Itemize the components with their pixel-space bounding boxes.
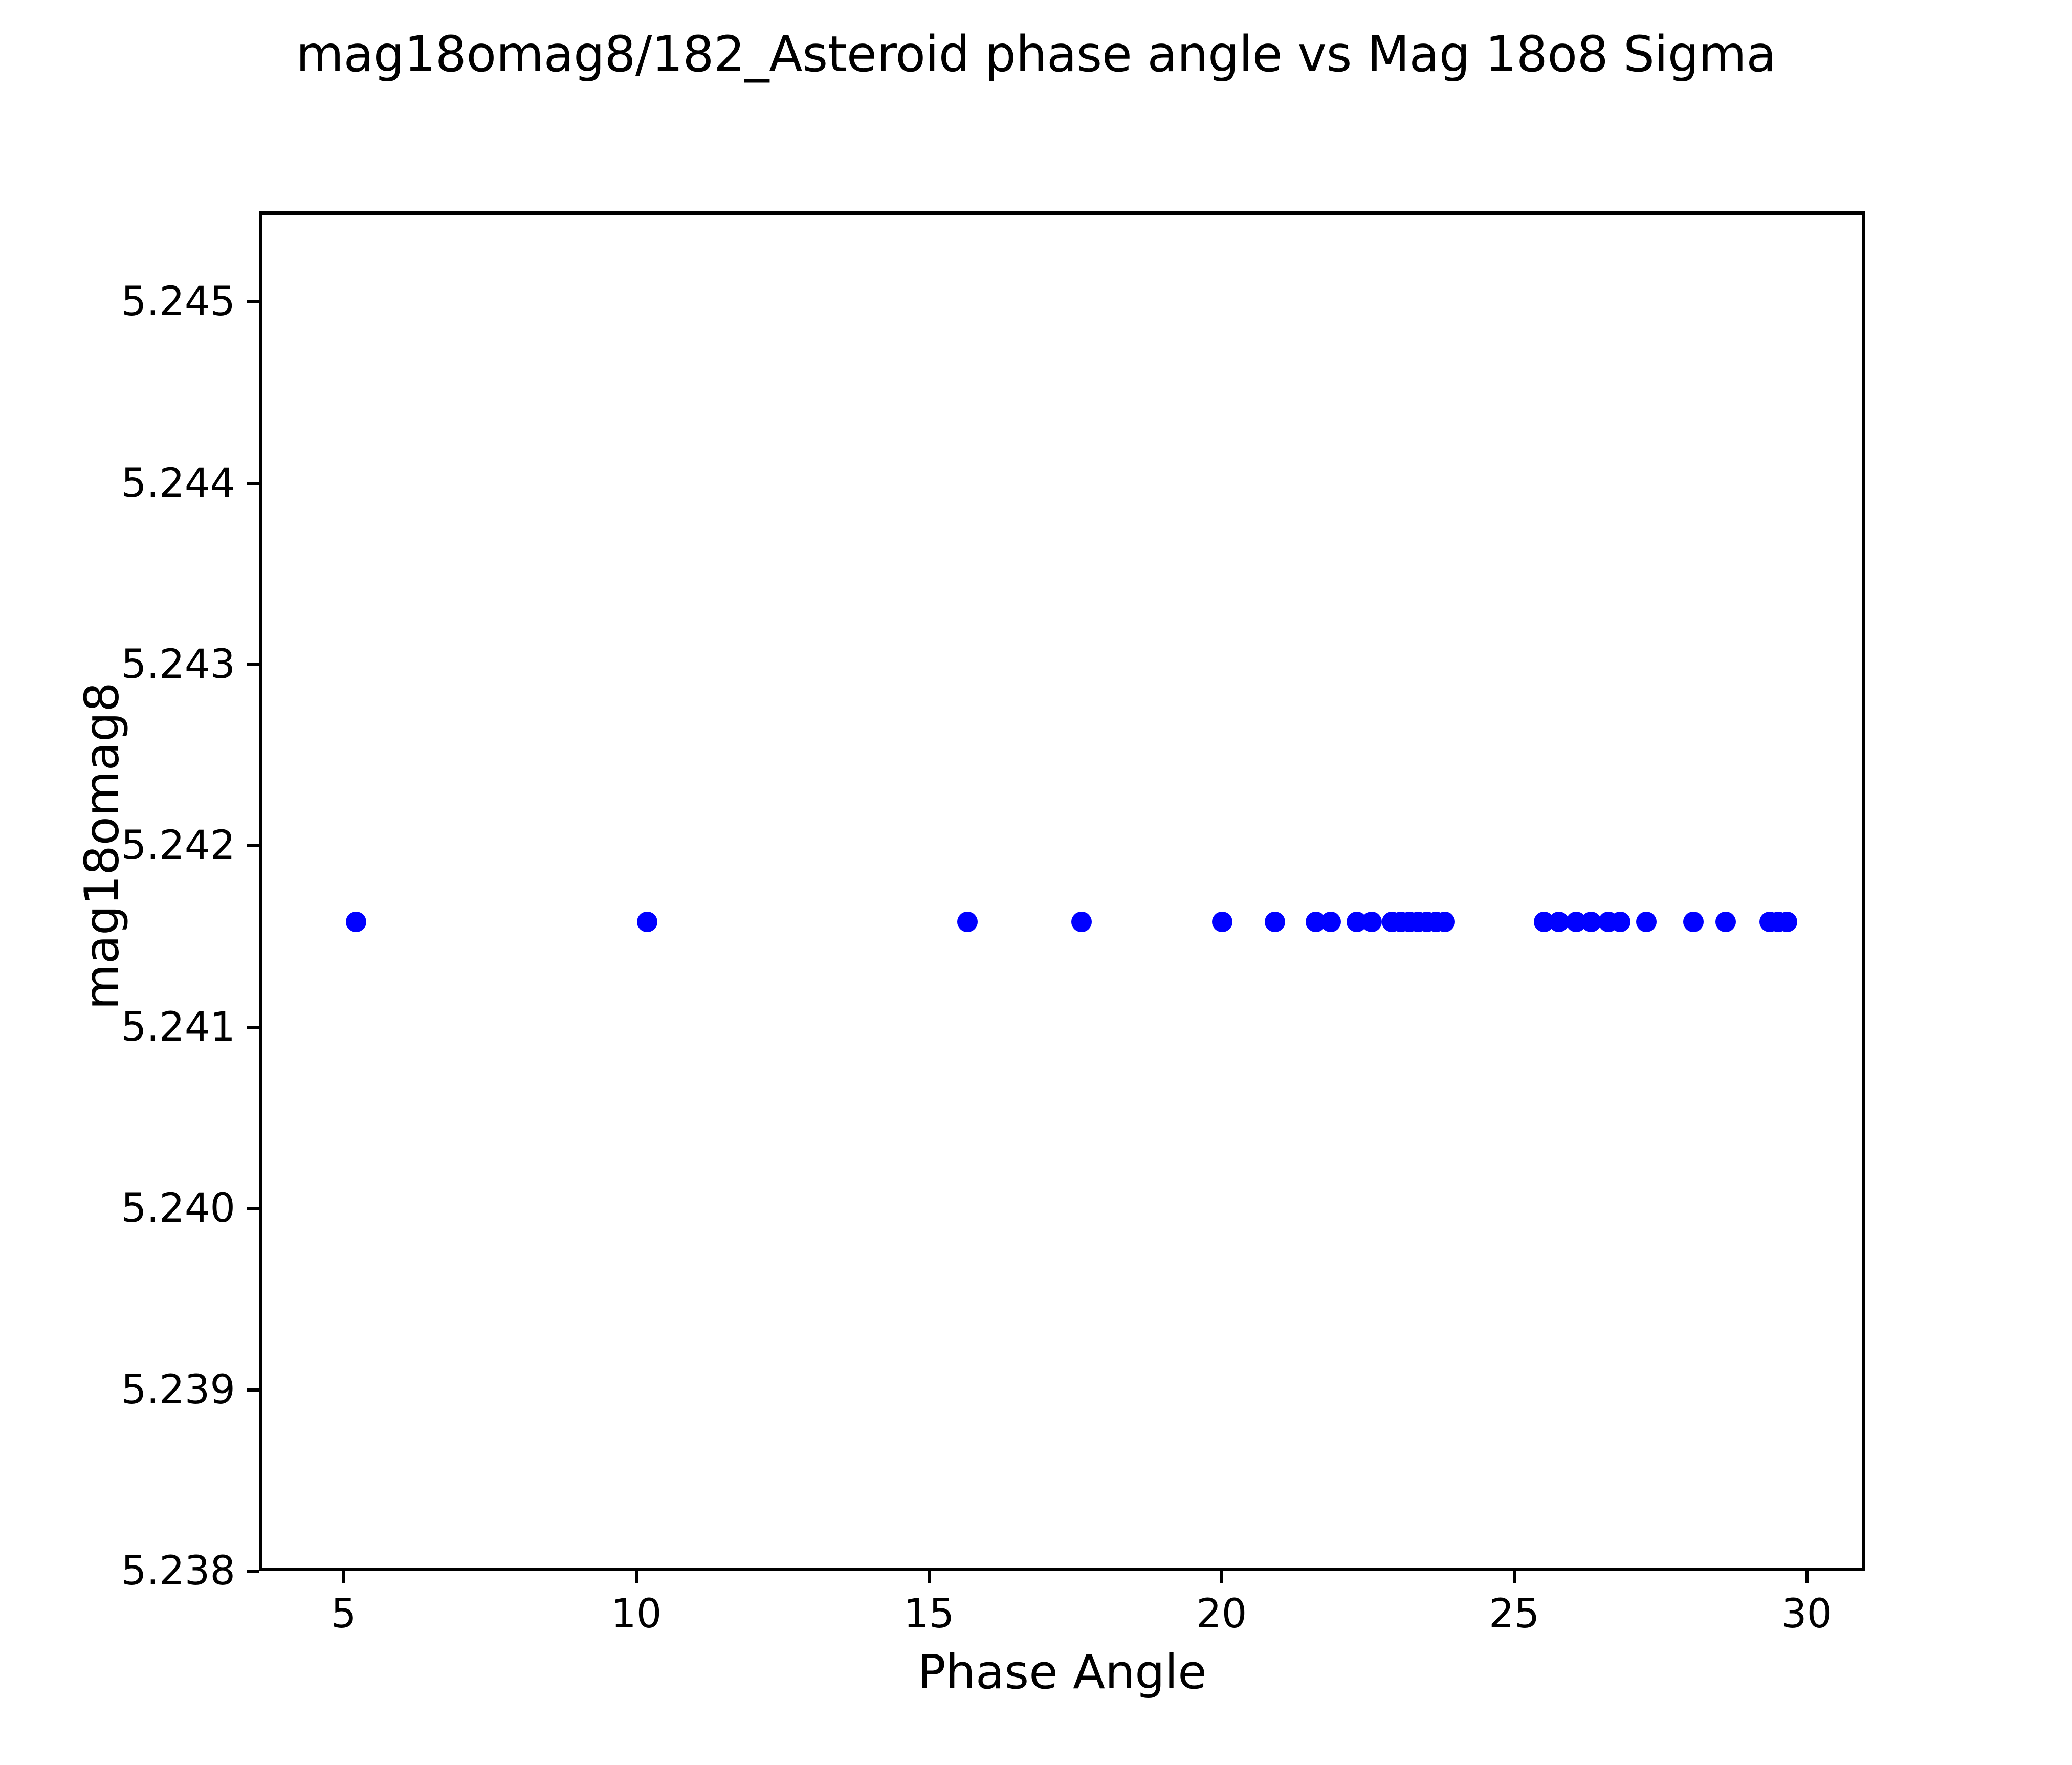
scatter-point (1071, 912, 1092, 932)
scatter-point (1320, 912, 1341, 932)
scatter-point (637, 912, 657, 932)
y-tick-mark (247, 844, 259, 847)
scatter-point (1435, 912, 1455, 932)
scatter-point (1610, 912, 1630, 932)
y-axis-title: mag18omag8 (75, 166, 129, 1526)
x-tick-mark (635, 1571, 638, 1583)
y-tick-mark (247, 663, 259, 666)
y-tick-label: 5.243 (121, 642, 235, 688)
x-tick-mark (1805, 1571, 1809, 1583)
y-tick-label: 5.240 (121, 1185, 235, 1231)
x-tick-label: 15 (903, 1591, 954, 1637)
y-tick-mark (247, 1207, 259, 1210)
x-tick-mark (1513, 1571, 1516, 1583)
y-tick-label: 5.238 (121, 1548, 235, 1594)
scatter-point (1636, 912, 1657, 932)
scatter-point (1212, 912, 1232, 932)
y-tick-label: 5.241 (121, 1004, 235, 1050)
scatter-point (1361, 912, 1382, 932)
x-tick-mark (342, 1571, 345, 1583)
x-tick-label: 25 (1489, 1591, 1539, 1637)
y-tick-mark (247, 300, 259, 303)
scatter-point (1715, 912, 1736, 932)
scatter-point (346, 912, 366, 932)
y-tick-mark (247, 1026, 259, 1029)
x-tick-label: 20 (1196, 1591, 1247, 1637)
scatter-point (1683, 912, 1704, 932)
x-tick-mark (1220, 1571, 1223, 1583)
x-axis-title: Phase Angle (259, 1645, 1865, 1700)
x-tick-mark (928, 1571, 931, 1583)
y-tick-mark (247, 1570, 259, 1573)
y-tick-label: 5.239 (121, 1367, 235, 1413)
x-tick-label: 5 (331, 1591, 357, 1637)
scatter-point (1265, 912, 1285, 932)
y-tick-mark (247, 482, 259, 485)
plot-area (262, 215, 1862, 1568)
y-tick-label: 5.242 (121, 823, 235, 869)
y-tick-mark (247, 1388, 259, 1392)
x-tick-label: 10 (611, 1591, 662, 1637)
x-tick-label: 30 (1781, 1591, 1832, 1637)
page-title: mag18omag8/182_Asteroid phase angle vs M… (0, 26, 2072, 83)
plot-frame (259, 211, 1865, 1571)
y-tick-label: 5.245 (121, 279, 235, 325)
y-tick-label: 5.244 (121, 460, 235, 506)
scatter-point (1777, 912, 1797, 932)
scatter-point (957, 912, 978, 932)
figure-canvas: mag18omag8/182_Asteroid phase angle vs M… (0, 0, 2072, 1765)
